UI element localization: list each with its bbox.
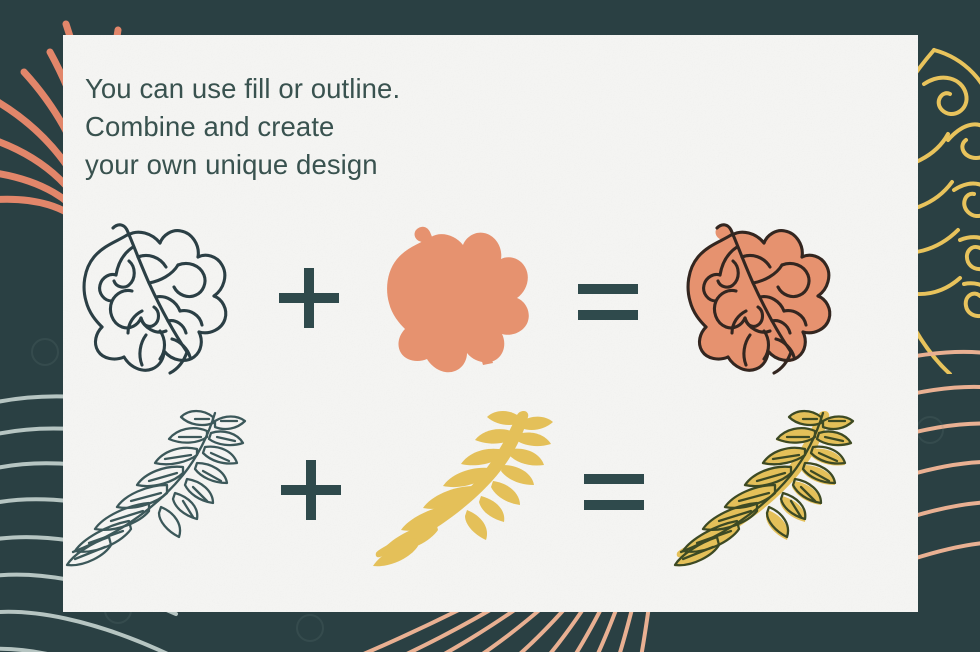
equation-row-fern (63, 391, 918, 581)
equals-icon (582, 469, 646, 515)
fern-frond-outline-icon (65, 407, 250, 577)
plus-icon (277, 266, 341, 330)
plus-icon (279, 458, 343, 522)
equation-row-monstera (63, 203, 918, 393)
fern-frond-combined-cell (653, 391, 858, 581)
monstera-leaf-combined-icon (676, 211, 851, 386)
poster-canvas: You can use fill or outline. Combine and… (0, 0, 980, 652)
paper-card: You can use fill or outline. Combine and… (63, 35, 918, 612)
monstera-leaf-outline-icon (72, 211, 247, 386)
monstera-leaf-fill-cell (358, 203, 563, 393)
page-title: You can use fill or outline. Combine and… (85, 70, 400, 185)
monstera-leaf-combined-cell (653, 203, 858, 393)
fern-frond-outline-cell (63, 391, 268, 581)
fern-frond-fill-icon (372, 407, 557, 577)
plus-operator-cell-2 (268, 391, 358, 581)
equals-icon (576, 279, 640, 325)
fern-frond-combined-icon (673, 407, 858, 577)
fern-frond-fill-cell (358, 391, 563, 581)
equals-operator-cell-2 (563, 391, 653, 581)
monstera-leaf-outline-cell (63, 203, 268, 393)
plus-operator-cell-1 (268, 203, 358, 393)
equals-operator-cell-1 (563, 203, 653, 393)
monstera-leaf-fill-icon (375, 213, 550, 388)
